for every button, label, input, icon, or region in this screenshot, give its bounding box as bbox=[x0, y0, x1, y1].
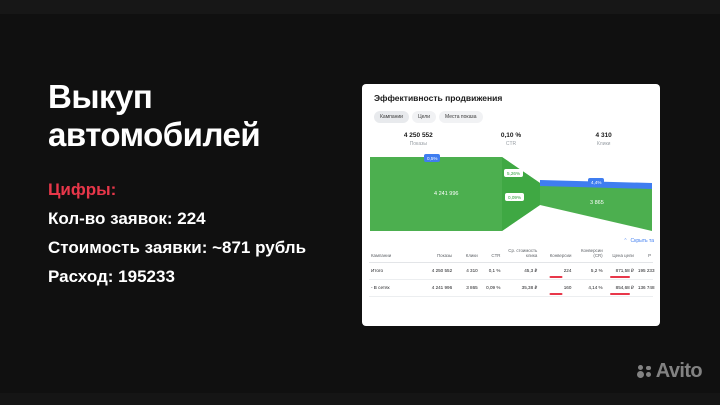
row-total-conversion-rate: 5,2 % bbox=[573, 262, 604, 279]
metric-clicks-value: 4 310 bbox=[557, 132, 650, 139]
row-total-clicks: 4 310 bbox=[454, 262, 480, 279]
row-networks-name: - В сетях bbox=[369, 279, 417, 296]
bottom-letterbox-bar bbox=[0, 393, 720, 405]
campaigns-table-wrap: Кампании Показы Клики CTR Ср. стоимость … bbox=[362, 248, 660, 297]
tab-goals[interactable]: Цели bbox=[412, 111, 436, 123]
dashboard-title: Эффективность продвижения bbox=[374, 93, 648, 103]
funnel-badge-clicks: 4,4% bbox=[588, 178, 604, 186]
top-letterbox-bar bbox=[0, 0, 720, 14]
metric-ctr-label: CTR bbox=[465, 141, 558, 147]
col-clicks[interactable]: Клики bbox=[454, 248, 480, 262]
metric-impressions-value: 4 250 552 bbox=[372, 132, 465, 139]
metric-ctr: 0,10 % CTR bbox=[465, 132, 558, 147]
funnel-value-left: 4 241 996 bbox=[434, 191, 458, 197]
row-total-name: Итого bbox=[369, 262, 417, 279]
metric-impressions-label: Показы bbox=[372, 141, 465, 147]
row-networks-goal-price: 854,68 ₽ bbox=[605, 279, 636, 296]
metric-impressions: 4 250 552 Показы bbox=[372, 132, 465, 147]
tab-placements[interactable]: Места показа bbox=[439, 111, 483, 123]
col-conversions[interactable]: Конверсии bbox=[539, 248, 573, 262]
metric-clicks: 4 310 Клики bbox=[557, 132, 650, 147]
slide-canvas: Выкуп автомобилей Цифры: Кол-во заявок: … bbox=[0, 0, 720, 405]
hide-table-link[interactable]: ⌃ Скрыть та bbox=[362, 235, 660, 244]
dashboard-tabs: Кампании Цели Места показа bbox=[374, 111, 648, 123]
funnel-badge-ctr: 5,26% bbox=[504, 169, 523, 177]
dashboard-header: Эффективность продвижения Кампании Цели … bbox=[362, 84, 660, 123]
funnel-chart: 0,5% 5,26% 0,09% 4,4% 4 241 996 3 865 bbox=[362, 153, 660, 235]
tab-campaigns[interactable]: Кампании bbox=[374, 111, 409, 123]
funnel-badge-conversion: 0,09% bbox=[505, 193, 524, 201]
row-total-spend: 195 233 bbox=[636, 262, 653, 279]
funnel-value-right: 3 865 bbox=[590, 200, 604, 206]
avito-watermark: Avito bbox=[637, 360, 702, 383]
page-title-line-2: автомобилей bbox=[48, 116, 348, 154]
row-total-conversions: 224 bbox=[539, 262, 573, 279]
metrics-row: 4 250 552 Показы 0,10 % CTR 4 310 Клики bbox=[362, 132, 660, 147]
figure-requests-count: Кол-во заявок: 224 bbox=[48, 209, 348, 229]
row-total-goal-price: 871,58 ₽ bbox=[605, 262, 636, 279]
row-networks-ctr: 0,09 % bbox=[480, 279, 503, 296]
row-networks-avg-click-cost: 35,38 ₽ bbox=[502, 279, 539, 296]
table-header-row: Кампании Показы Клики CTR Ср. стоимость … bbox=[369, 248, 653, 262]
avito-logo-icon bbox=[637, 365, 652, 379]
col-conversion-rate[interactable]: Конверсии (CR) bbox=[573, 248, 604, 262]
col-avg-click-cost[interactable]: Ср. стоимость клика bbox=[502, 248, 539, 262]
campaigns-table: Кампании Показы Клики CTR Ср. стоимость … bbox=[369, 248, 653, 297]
avito-brand-text: Avito bbox=[656, 360, 702, 383]
dashboard-panel: Эффективность продвижения Кампании Цели … bbox=[362, 84, 660, 326]
left-content: Выкуп автомобилей Цифры: Кол-во заявок: … bbox=[48, 78, 348, 287]
row-networks-impressions: 4 241 996 bbox=[417, 279, 454, 296]
row-networks-conversions: 160 bbox=[539, 279, 573, 296]
chevron-up-icon: ⌃ bbox=[623, 238, 627, 244]
col-campaigns[interactable]: Кампании bbox=[369, 248, 417, 262]
col-ctr[interactable]: CTR bbox=[480, 248, 503, 262]
table-row[interactable]: Итого 4 250 552 4 310 0,1 % 45,3 ₽ 224 5… bbox=[369, 262, 653, 279]
col-impressions[interactable]: Показы bbox=[417, 248, 454, 262]
figure-spend: Расход: 195233 bbox=[48, 267, 348, 287]
page-title: Выкуп автомобилей bbox=[48, 78, 348, 154]
page-title-line-1: Выкуп bbox=[48, 78, 348, 116]
col-spend[interactable]: Р bbox=[636, 248, 653, 262]
row-total-ctr: 0,1 % bbox=[480, 262, 503, 279]
metric-ctr-value: 0,10 % bbox=[465, 132, 558, 139]
row-total-avg-click-cost: 45,3 ₽ bbox=[502, 262, 539, 279]
row-networks-conversion-rate: 4,14 % bbox=[573, 279, 604, 296]
metric-clicks-label: Клики bbox=[557, 141, 650, 147]
table-row[interactable]: - В сетях 4 241 996 3 865 0,09 % 35,38 ₽… bbox=[369, 279, 653, 296]
col-goal-price[interactable]: Цена цели bbox=[605, 248, 636, 262]
row-networks-spend: 136 748 bbox=[636, 279, 653, 296]
figure-request-cost: Стоимость заявки: ~871 рубль bbox=[48, 238, 348, 258]
hide-table-label: Скрыть та bbox=[631, 238, 654, 244]
figures-heading: Цифры: bbox=[48, 180, 348, 200]
funnel-badge-impressions: 0,5% bbox=[424, 154, 440, 162]
row-total-impressions: 4 250 552 bbox=[417, 262, 454, 279]
row-networks-clicks: 3 865 bbox=[454, 279, 480, 296]
